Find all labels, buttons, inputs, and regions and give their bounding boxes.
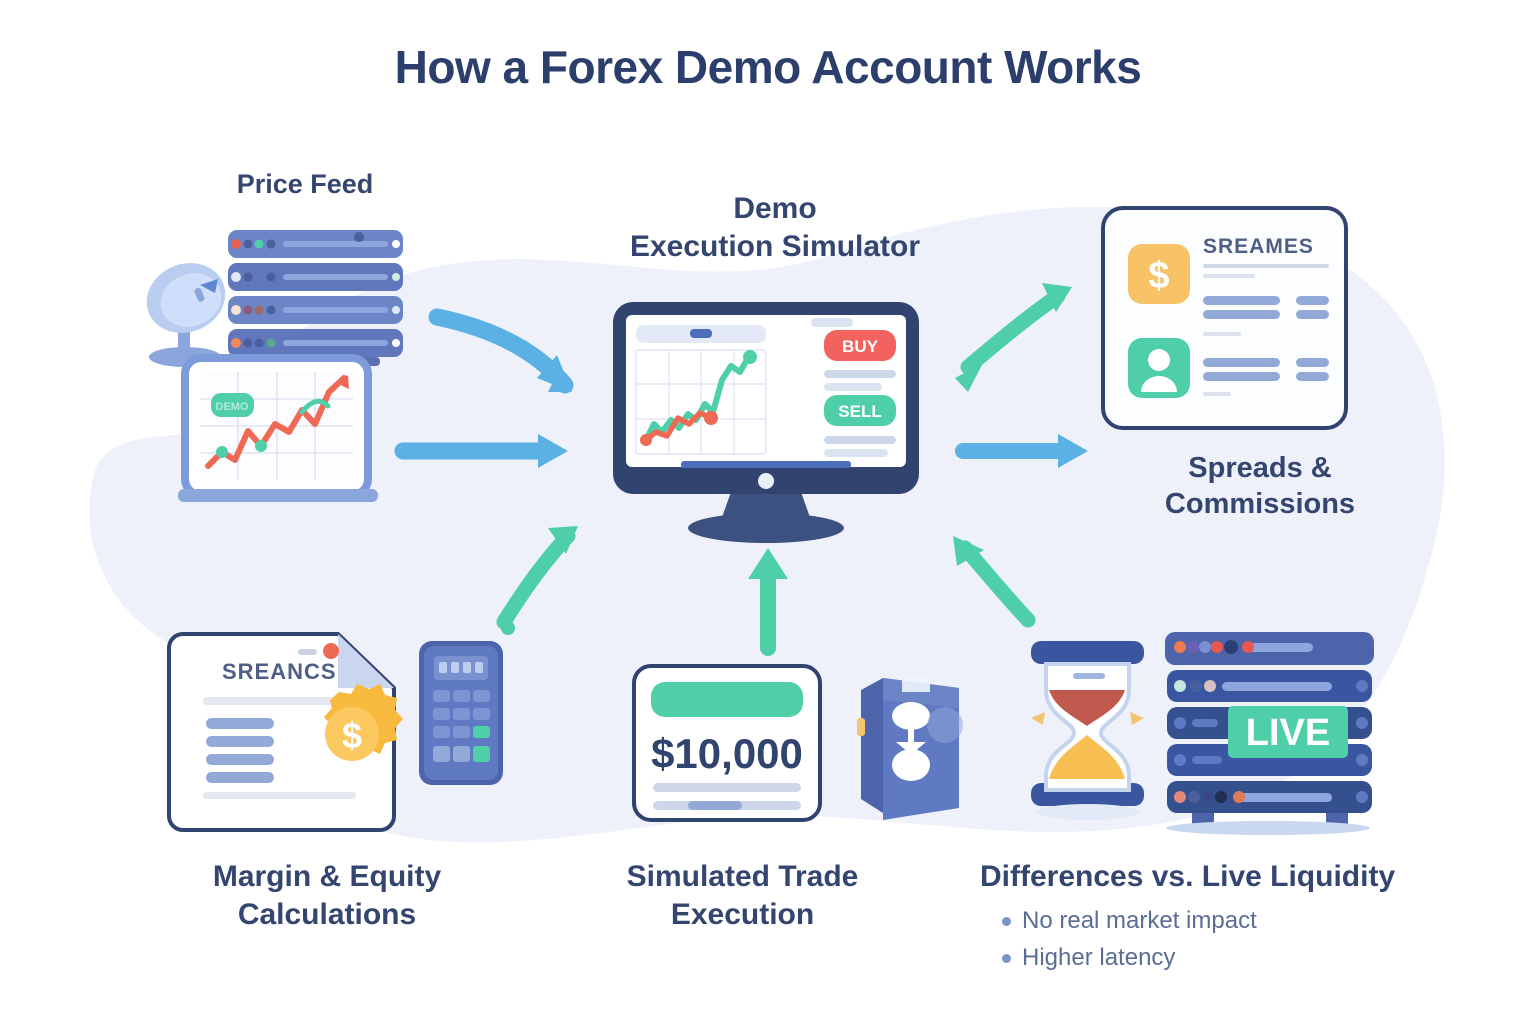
svg-text:SREANCS: SREANCS [222,659,337,684]
illustrations-layer: DEMO BUY [0,0,1536,1024]
svg-text:LIVE: LIVE [1246,712,1330,754]
svg-text:BUY: BUY [842,337,879,356]
svg-text:$: $ [1148,255,1169,297]
package-box-icon [857,676,963,820]
server-rack-icon [228,230,403,366]
desktop-monitor-icon: BUY SELL [613,302,919,543]
satellite-dish-icon [136,251,236,367]
svg-text:SELL: SELL [838,402,881,421]
document-icon: SREANCS $ [169,634,403,830]
spreads-card-icon: $ SREAMES [1103,208,1346,428]
svg-text:$10,000: $10,000 [651,730,803,777]
balance-card-icon: $10,000 [634,666,820,820]
buy-button: BUY [824,330,896,361]
svg-text:DEMO: DEMO [216,401,249,413]
svg-text:SREAMES: SREAMES [1203,235,1314,258]
live-server-rack-icon: LIVE [1165,632,1374,835]
calculator-icon [419,621,515,785]
infographic-canvas: DEMO BUY [0,0,1536,1024]
laptop-chart-icon: DEMO [178,358,378,502]
hourglass-icon [1031,641,1144,820]
svg-text:$: $ [342,715,362,756]
sell-button: SELL [824,395,896,426]
live-badge: LIVE [1228,706,1348,758]
